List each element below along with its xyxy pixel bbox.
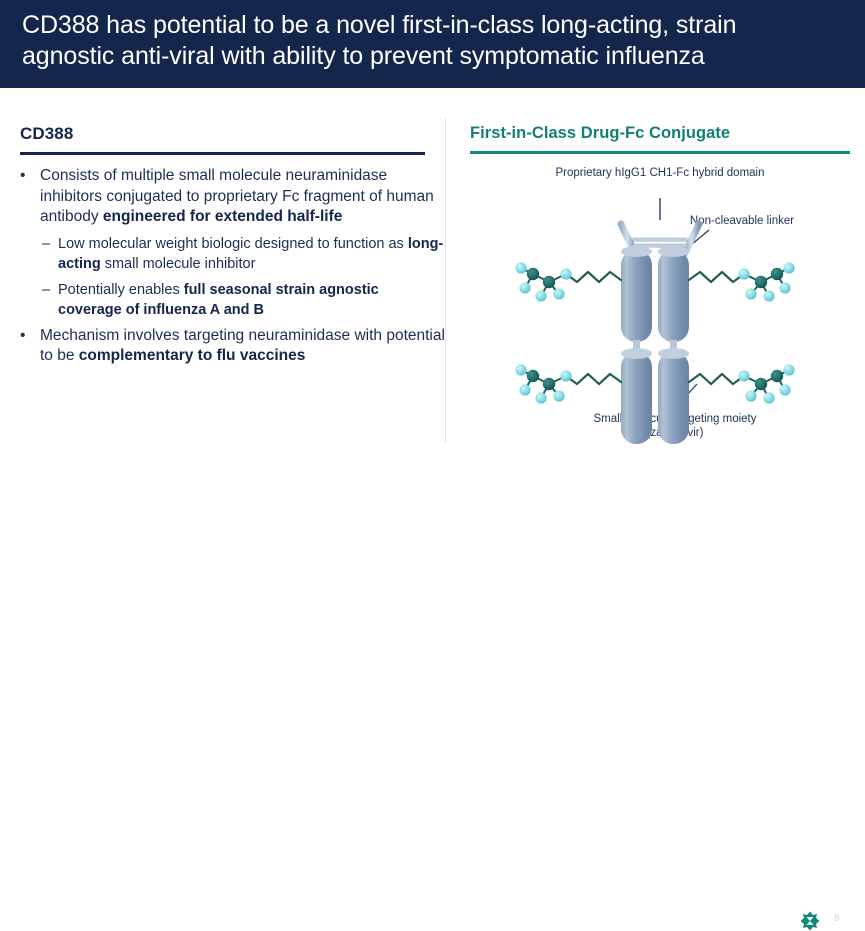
- right-heading-rule: [470, 151, 850, 154]
- domain-upper-right: [658, 246, 689, 342]
- bullet-marker: •: [20, 166, 25, 187]
- bullet-marker: –: [42, 234, 50, 254]
- domain-upper-left: [621, 246, 652, 342]
- bullet-text-emphasis: engineered for extended half-life: [103, 208, 342, 225]
- linker-lower-left: [566, 374, 621, 384]
- bullet-marker: –: [42, 280, 50, 300]
- bullet-text: Low molecular weight biologic designed t…: [58, 236, 408, 252]
- right-column: First-in-Class Drug-Fc Conjugate Proprie…: [445, 88, 865, 485]
- moiety-lower-left: [515, 364, 571, 403]
- bullet-item-level1: •Mechanism involves targeting neuraminid…: [0, 326, 445, 367]
- left-bullet-list: •Consists of multiple small molecule neu…: [0, 166, 445, 373]
- linker-lower-right: [689, 374, 744, 384]
- slide: CD388 has potential to be a novel first-…: [0, 0, 865, 485]
- bullet-item-level1: •Consists of multiple small molecule neu…: [0, 166, 445, 228]
- slide-footer: 8: [0, 450, 865, 485]
- bullet-item-level2: –Potentially enables full seasonal strai…: [0, 280, 445, 320]
- antibody-conjugate-illustration: [445, 158, 865, 478]
- moiety-lower-right: [738, 364, 794, 403]
- left-column: CD388 •Consists of multiple small molecu…: [0, 88, 445, 485]
- linker-upper-left: [566, 272, 621, 282]
- linker-upper-right: [689, 272, 744, 282]
- moiety-upper-left: [515, 262, 571, 301]
- right-section-heading: First-in-Class Drug-Fc Conjugate: [470, 124, 730, 143]
- bullet-text: small molecule inhibitor: [101, 256, 256, 272]
- company-logo-icon: [800, 911, 820, 931]
- drug-fc-conjugate-diagram: Proprietary hIgG1 CH1-Fc hybrid domain N…: [445, 158, 865, 478]
- page-title: CD388 has potential to be a novel first-…: [22, 10, 822, 72]
- domain-lower-right: [658, 348, 689, 444]
- bullet-text-emphasis: complementary to flu vaccines: [79, 347, 306, 364]
- bullet-marker: •: [20, 326, 25, 347]
- left-heading-rule: [20, 152, 425, 155]
- bullet-item-level2: –Low molecular weight biologic designed …: [0, 234, 445, 274]
- title-band: CD388 has potential to be a novel first-…: [0, 0, 865, 88]
- domain-lower-left: [621, 348, 652, 444]
- moiety-upper-right: [738, 262, 794, 301]
- left-section-heading: CD388: [20, 124, 73, 144]
- page-number: 8: [834, 913, 840, 924]
- bullet-text: Potentially enables: [58, 282, 184, 298]
